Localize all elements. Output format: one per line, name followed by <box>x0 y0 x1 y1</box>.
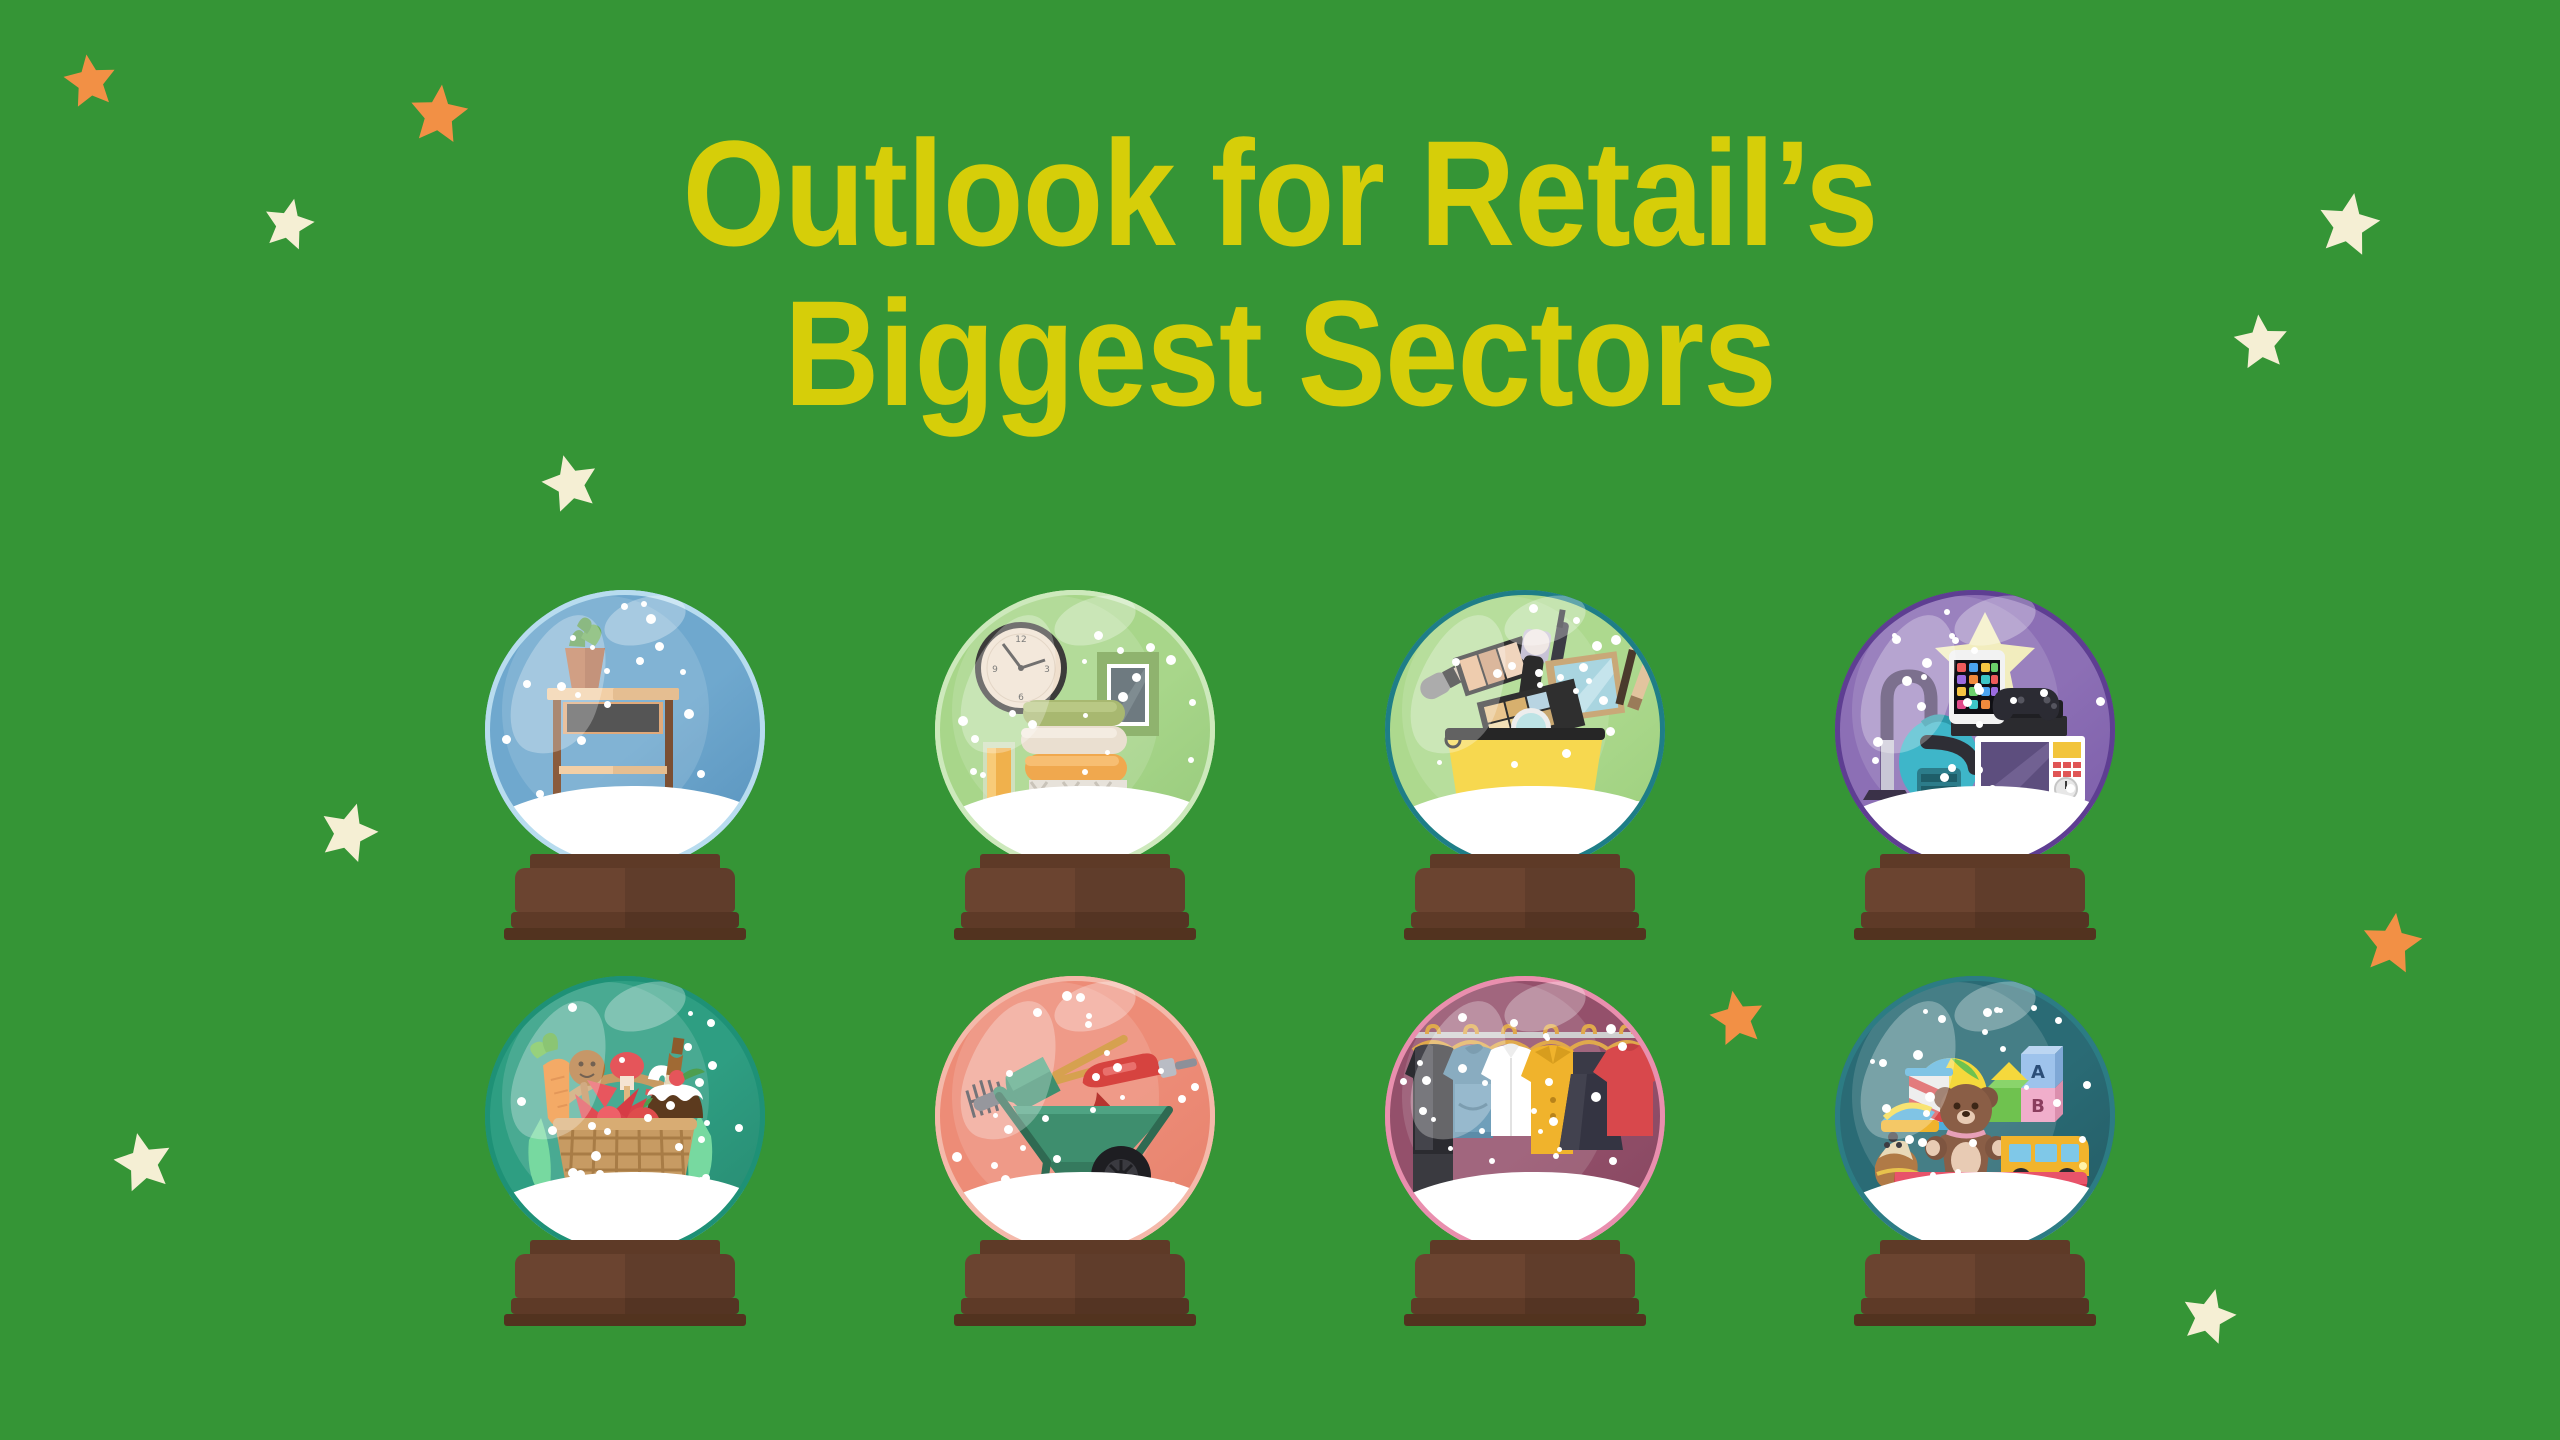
globe-base-diy-garden <box>965 1240 1185 1326</box>
snow-globe-diy-garden[interactable] <box>925 976 1225 1326</box>
potted-cactus-icon <box>565 618 605 690</box>
globe-scene-beauty-cosmetics <box>1385 590 1665 870</box>
globe-base-home-decor <box>965 854 1185 940</box>
base-plinth <box>1854 928 2096 940</box>
globe-scene-furniture <box>485 590 765 870</box>
alphabet-blocks-icon: A B <box>1987 1046 2063 1122</box>
base-foot <box>1411 1298 1640 1314</box>
base-plinth <box>954 928 1196 940</box>
globe-base-furniture <box>515 854 735 940</box>
star-icon <box>2229 309 2293 373</box>
title-line-2: Biggest Sectors <box>154 278 2407 428</box>
snow-globe-beauty-cosmetics[interactable] <box>1375 590 1675 940</box>
base-plinth <box>504 1314 746 1326</box>
globe-ball-beauty-cosmetics <box>1385 590 1665 870</box>
base-body <box>1415 868 1635 912</box>
svg-text:9: 9 <box>992 665 998 675</box>
globe-ball-diy-garden <box>935 976 1215 1256</box>
base-top <box>530 1240 719 1254</box>
globe-scene-clothing-fashion <box>1385 976 1665 1256</box>
base-plinth <box>1404 928 1646 940</box>
base-foot <box>511 912 740 928</box>
svg-text:12: 12 <box>1015 635 1026 645</box>
base-top <box>1880 854 2069 868</box>
globe-ball-grocery-food <box>485 976 765 1256</box>
globe-ball-electronics-appliances <box>1835 590 2115 870</box>
star-icon <box>58 48 121 111</box>
svg-text:3: 3 <box>1044 665 1050 675</box>
base-plinth <box>504 928 746 940</box>
star-icon <box>257 191 321 255</box>
base-body <box>515 1254 735 1298</box>
base-body <box>1415 1254 1635 1298</box>
snow-globe-electronics-appliances[interactable] <box>1825 590 2125 940</box>
page-title: Outlook for Retail’s Biggest Sectors <box>0 118 2560 428</box>
base-foot <box>1861 1298 2090 1314</box>
base-top <box>1430 854 1619 868</box>
base-foot <box>961 912 1190 928</box>
globe-ball-clothing-fashion <box>1385 976 1665 1256</box>
star-icon <box>2311 185 2387 261</box>
base-foot <box>1861 912 2090 928</box>
globe-ball-furniture <box>485 590 765 870</box>
snow-globe-clothing-fashion[interactable] <box>1375 976 1675 1326</box>
base-body <box>965 868 1185 912</box>
star-icon <box>534 446 607 519</box>
star-icon <box>311 793 388 870</box>
base-plinth <box>1404 1314 1646 1326</box>
globe-scene-diy-garden <box>935 976 1215 1256</box>
snow-globe-toys[interactable]: A B <box>1825 976 2125 1326</box>
base-top <box>1430 1240 1619 1254</box>
star-icon <box>106 1124 180 1198</box>
globe-base-clothing-fashion <box>1415 1240 1635 1326</box>
globe-base-beauty-cosmetics <box>1415 854 1635 940</box>
globe-scene-toys: A B <box>1835 976 2115 1256</box>
base-foot <box>961 1298 1190 1314</box>
snow-globe-home-decor[interactable]: 12 3 6 9 <box>925 590 1225 940</box>
base-top <box>1880 1240 2069 1254</box>
snow-globe-grid: 12 3 6 9 <box>400 590 2200 1326</box>
snow-globe-grocery-food[interactable] <box>475 976 775 1326</box>
globe-scene-grocery-food <box>485 976 765 1256</box>
globe-scene-home-decor: 12 3 6 9 <box>935 590 1215 870</box>
base-top <box>980 854 1169 868</box>
base-body <box>1865 1254 2085 1298</box>
svg-text:A: A <box>2031 1062 2045 1083</box>
globe-ball-home-decor: 12 3 6 9 <box>935 590 1215 870</box>
snow-globe-furniture[interactable] <box>475 590 775 940</box>
star-icon <box>2356 906 2428 978</box>
poster-canvas: Outlook for Retail’s Biggest Sectors <box>0 0 2560 1440</box>
globe-base-grocery-food <box>515 1240 735 1326</box>
svg-text:B: B <box>2031 1096 2045 1117</box>
side-table-icon <box>547 688 679 796</box>
base-plinth <box>1854 1314 2096 1326</box>
folded-towels-icon <box>1021 700 1127 782</box>
base-foot <box>1411 912 1640 928</box>
base-top <box>530 854 719 868</box>
globe-scene-electronics-appliances <box>1835 590 2115 870</box>
title-line-1: Outlook for Retail’s <box>154 118 2407 268</box>
svg-text:6: 6 <box>1018 693 1024 703</box>
globe-ball-toys: A B <box>1835 976 2115 1256</box>
star-icon <box>405 79 473 147</box>
base-body <box>965 1254 1185 1298</box>
globe-base-toys <box>1865 1240 2085 1326</box>
globe-base-electronics-appliances <box>1865 854 2085 940</box>
base-foot <box>511 1298 740 1314</box>
base-body <box>1865 868 2085 912</box>
base-plinth <box>954 1314 1196 1326</box>
base-top <box>980 1240 1169 1254</box>
base-body <box>515 868 735 912</box>
